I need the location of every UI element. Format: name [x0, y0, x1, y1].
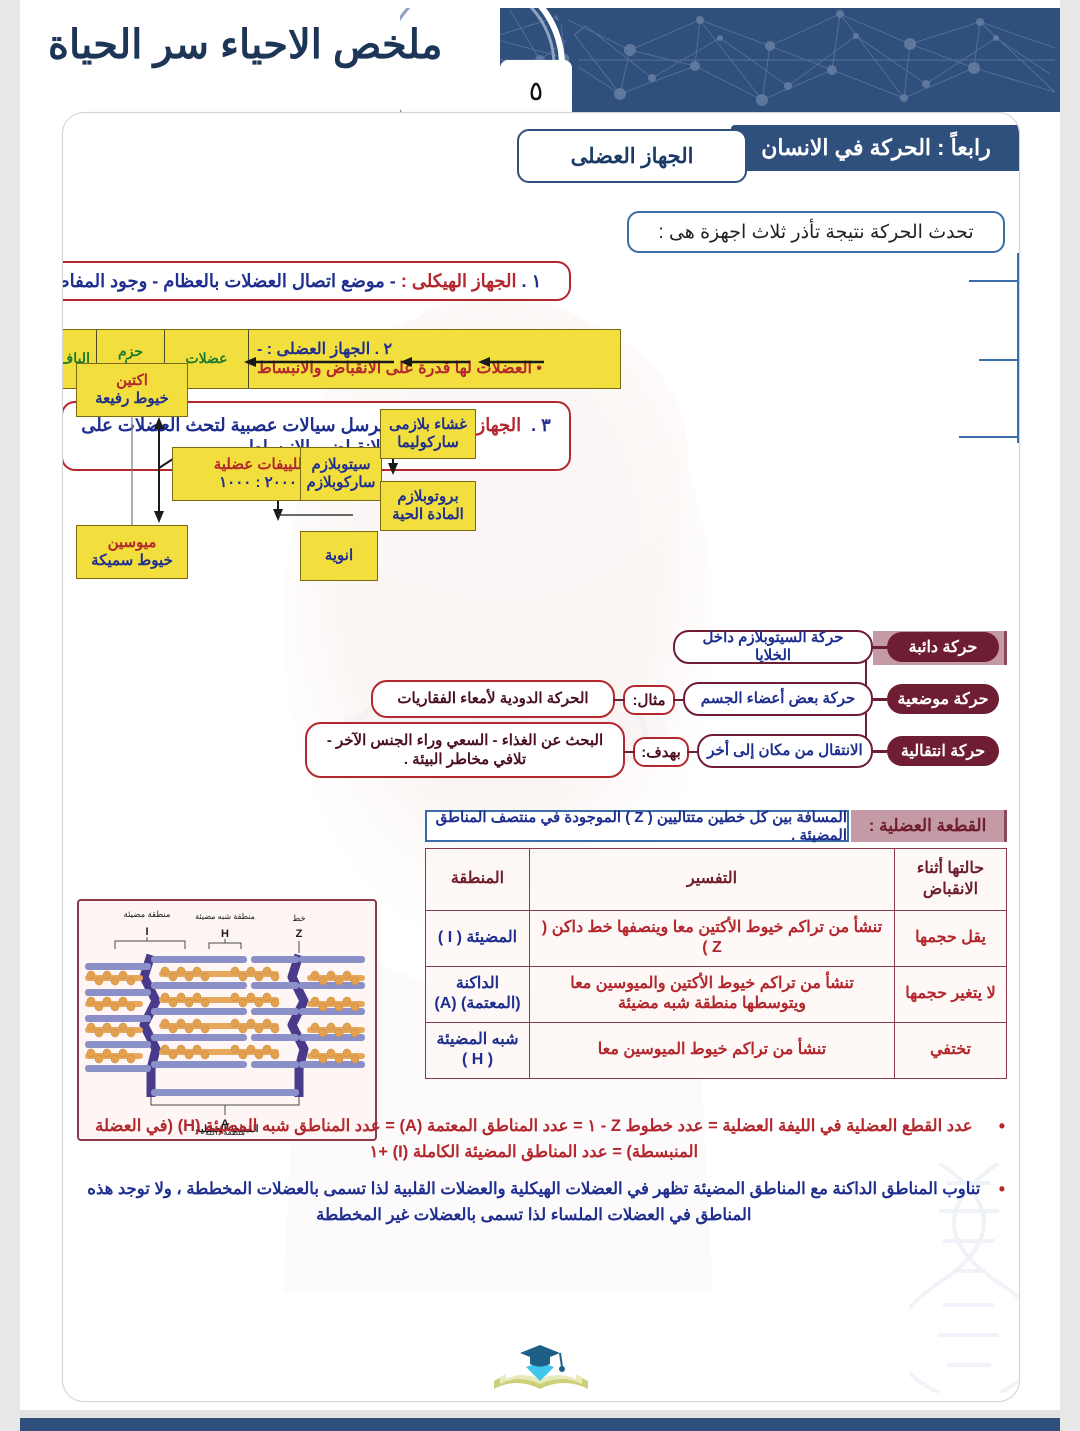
zones-col-state: حالتها أثناء الانقباض — [895, 849, 1007, 911]
illus-label-I: منطقة مضيئة — [124, 909, 171, 919]
cell-box-actin-sub: خيوط رفيعة — [95, 390, 169, 408]
bullet-item: • عدد القطع العضلية في الليفة العضلية = … — [75, 1113, 1005, 1166]
intro-box: تحدث الحركة نتيجة تأذر ثلاث اجهزة هى : — [627, 211, 1005, 253]
cell-box-cytoplasm-sub: ساركوبلازم — [307, 474, 376, 492]
page-number: ٥ — [500, 60, 572, 112]
cell-box-myosin-sub: خيوط سميكة — [91, 552, 173, 570]
cell-box-protoplasm-sub: المادة الحية — [392, 506, 464, 524]
zone-state-3: تختفي — [895, 1022, 1007, 1078]
zone-name-3: شبه المضيئة ( H ) — [426, 1022, 530, 1078]
table-row: لا يتغير حجمها تنشأ من تراكم خيوط الأكتي… — [426, 966, 1007, 1022]
movement-desc-1: حركة السيتوبلازم داخل الخلايا — [673, 630, 873, 664]
section-tab: رابعاً : الحركة في الانسان — [731, 125, 1020, 171]
system-box-skeletal-text: - موضع اتصال العضلات بالعظام - وجود المف… — [62, 270, 396, 293]
movement-type-1: حركة دائبة — [887, 632, 999, 662]
movement-desc-3: الانتقال من مكان إلى أخر — [697, 734, 873, 768]
system-box-skeletal-num: ١ . — [522, 270, 542, 293]
footer-logo: Nezakrنذاكر — [456, 1337, 626, 1402]
illus-letter-Z: Z — [296, 928, 303, 940]
movement-type-3: حركة انتقالية — [887, 736, 999, 766]
zones-col-explanation: التفسير — [530, 849, 895, 911]
cell-box-membrane-sub: ساركوليما — [397, 434, 459, 452]
zone-state-1: يقل حجمها — [895, 911, 1007, 967]
sarcomere-note: المسافة بين كل خطين متتاليين ( Z ) الموج… — [425, 810, 849, 842]
movement-link-3b — [687, 751, 699, 753]
illus-letter-H: H — [221, 928, 229, 940]
bullet-text-2: تناوب المناطق الداكنة مع المناطق المضيئة… — [75, 1176, 993, 1229]
chain-arrow-2 — [400, 356, 470, 368]
zone-name-2: الداكنة (المعتمة) (A) — [426, 966, 530, 1022]
sarcomere-svg: منطقة مضيئة I منطقة شبه مضيئة H خط Z — [77, 901, 375, 1141]
sarcomere-illustration: منطقة مضيئة I منطقة شبه مضيئة H خط Z — [77, 899, 377, 1141]
connector-branch-3 — [959, 436, 1019, 438]
cell-box-cytoplasm-title: سيتوبلازم — [311, 456, 370, 474]
movement-link-2c — [613, 699, 625, 701]
system-box-skeletal-lead: الجهاز الهيكلى : — [401, 270, 517, 293]
illus-label-Z: خط — [292, 913, 305, 923]
zones-table-header-row: حالتها أثناء الانقباض التفسير المنطقة — [426, 849, 1007, 911]
zone-explanation-2: تنشأ من تراكم خيوط الأكتين والميوسين معا… — [530, 966, 895, 1022]
cell-box-membrane-title: غشاء بلازمى — [389, 416, 467, 434]
movement-link-3 — [871, 751, 887, 753]
movement-label-3: بهدف: — [633, 737, 689, 767]
cell-box-protoplasm-title: بروتوبلازم — [397, 488, 458, 506]
page-title: ملخص الاحياء سر الحياة — [48, 22, 498, 68]
zone-state-2: لا يتغير حجمها — [895, 966, 1007, 1022]
bullet-text-1: عدد القطع العضلية في الليفة العضلية = عد… — [75, 1113, 993, 1166]
movement-link-1 — [871, 647, 887, 649]
bullet-dot: • — [999, 1113, 1005, 1139]
cell-box-membrane: غشاء بلازمى ساركوليما — [380, 409, 476, 459]
cell-box-actin: اكتين خيوط رفيعة — [76, 363, 188, 417]
footer-separator — [20, 1410, 1060, 1418]
cell-box-fibrils-ratio: ٢٠٠٠ : ١٠٠٠ — [219, 474, 297, 492]
cell-box-actin-title: اكتين — [116, 372, 148, 390]
table-row: تختفي تنشأ من تراكم خيوط الميوسين معا شب… — [426, 1022, 1007, 1078]
zone-explanation-3: تنشأ من تراكم خيوط الميوسين معا — [530, 1022, 895, 1078]
cell-box-myosin-title: ميوسين — [108, 534, 157, 552]
cell-box-myosin: ميوسين خيوط سميكة — [76, 525, 188, 579]
movement-link-2 — [871, 699, 887, 701]
cell-box-fibrils-title: للييفات عضلية — [214, 456, 303, 474]
system-box-nervous-num: ٣ . — [531, 415, 551, 435]
movement-goal-3: البحث عن الغذاء - السعي وراء الجنس الآخر… — [305, 722, 625, 778]
cell-box-nucleus-title: انوية — [325, 547, 353, 565]
illus-letter-I: I — [145, 926, 148, 938]
system-box-skeletal: ١ . الجهاز الهيكلى : - موضع اتصال العضلا… — [62, 261, 571, 301]
movement-desc-2: حركة بعض أعضاء الجسم — [683, 682, 873, 716]
movement-type-2: حركة موضعية — [887, 684, 999, 714]
zones-col-zone: المنطقة — [426, 849, 530, 911]
zones-table: حالتها أثناء الانقباض التفسير المنطقة يق… — [425, 848, 1007, 1079]
connector-branch-1 — [969, 280, 1019, 282]
movement-label-2: مثال: — [623, 685, 675, 715]
cell-box-cytoplasm: سيتوبلازم ساركوبلازم — [300, 447, 382, 501]
movement-example-2: الحركة الدودية لأمعاء الفقاريات — [371, 680, 615, 718]
section-subtitle: الجهاز العضلى — [517, 129, 747, 183]
movement-link-2b — [673, 699, 685, 701]
bullet-item: • تناوب المناطق الداكنة مع المناطق المضي… — [75, 1176, 1005, 1229]
cell-box-nucleus: انوية — [300, 531, 378, 581]
graduate-book-logo-icon — [486, 1337, 596, 1402]
illus-label-H: منطقة شبه مضيئة — [195, 912, 255, 921]
zone-explanation-1: تنشأ من تراكم خيوط الأكتين معا وينصفها خ… — [530, 911, 895, 967]
sarcomere-heading: القطعة العضلية : — [851, 810, 1007, 842]
content-card: رابعاً : الحركة في الانسان الجهاز العضلى… — [62, 112, 1020, 1402]
zone-name-1: المضيئة ( I ) — [426, 911, 530, 967]
bullet-dot: • — [999, 1176, 1005, 1202]
footer-bar — [20, 1418, 1060, 1431]
movement-link-3c — [623, 751, 635, 753]
chain-arrow-1 — [244, 356, 394, 368]
cell-box-protoplasm: بروتوبلازم المادة الحية — [380, 481, 476, 531]
bullet-notes: • عدد القطع العضلية في الليفة العضلية = … — [75, 1113, 1005, 1239]
chain-arrow-3 — [478, 356, 544, 368]
table-row: يقل حجمها تنشأ من تراكم خيوط الأكتين معا… — [426, 911, 1007, 967]
header-banner: ملخص الاحياء سر الحياة ٥ — [20, 8, 1060, 112]
connector-branch-2 — [979, 359, 1019, 361]
page-sheet: ملخص الاحياء سر الحياة ٥ — [20, 0, 1060, 1431]
